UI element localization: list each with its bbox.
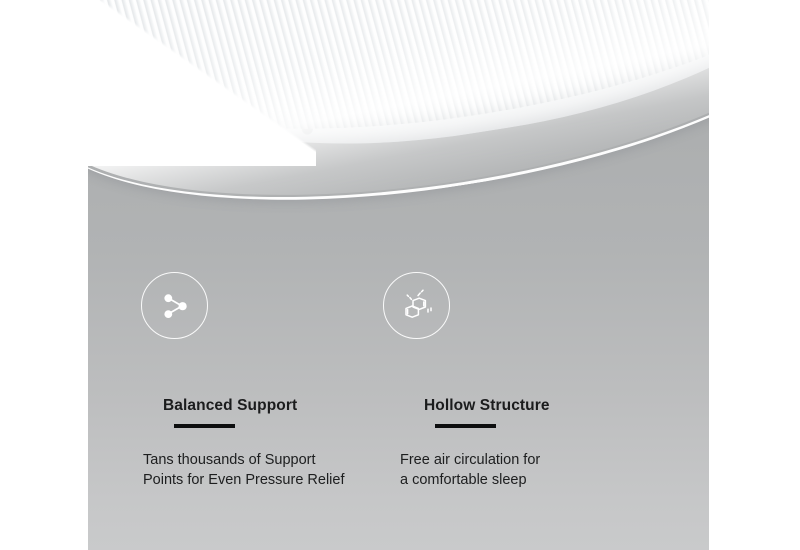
gray-product-panel: Balanced Support Tans thousands of Suppo… <box>88 0 709 550</box>
feature-list: Balanced Support Tans thousands of Suppo… <box>88 272 709 550</box>
share-network-icon <box>141 272 208 339</box>
feature-title: Hollow Structure <box>424 397 641 415</box>
material-closeup-photo <box>88 0 709 250</box>
feature-title: Balanced Support <box>163 397 398 415</box>
feature-description: Free air circulation for a comfortable s… <box>400 450 641 490</box>
title-underline-rule <box>435 424 496 428</box>
feature-item-hollow-structure: Hollow Structure Free air circulation fo… <box>381 272 641 490</box>
molecule-hexagon-icon <box>383 272 450 339</box>
feature-item-balanced-support: Balanced Support Tans thousands of Suppo… <box>138 272 398 490</box>
product-feature-banner: Balanced Support Tans thousands of Suppo… <box>0 0 800 550</box>
feature-description: Tans thousands of Support Points for Eve… <box>143 450 398 490</box>
title-underline-rule <box>174 424 235 428</box>
